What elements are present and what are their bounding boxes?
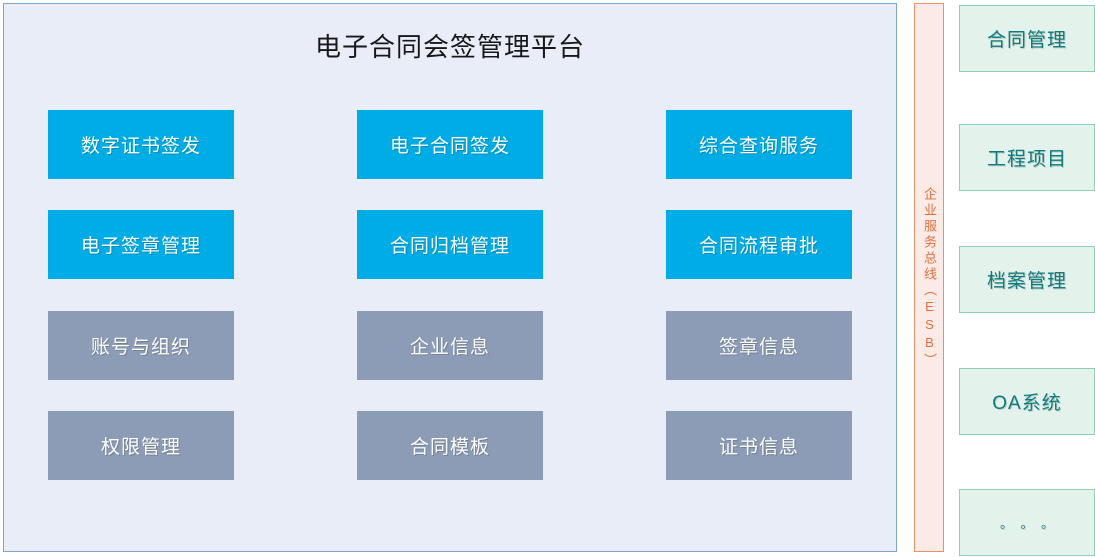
architecture-diagram: 电子合同会签管理平台 数字证书签发 电子合同签发 综合查询服务 电子签章管理 合… (0, 0, 1095, 557)
module-tile-permission-management[interactable]: 权限管理 (48, 411, 234, 480)
module-tile-econtract-issuance[interactable]: 电子合同签发 (357, 110, 543, 179)
external-system-engineering-project[interactable]: 工程项目 (959, 124, 1095, 191)
module-tile-label: 电子合同签发 (390, 131, 510, 158)
external-system-label: 。。。 (986, 513, 1068, 532)
module-tile-contract-template[interactable]: 合同模板 (357, 411, 543, 480)
page-title: 电子合同会签管理平台 (4, 30, 896, 64)
platform-panel: 电子合同会签管理平台 数字证书签发 电子合同签发 综合查询服务 电子签章管理 合… (3, 3, 897, 552)
module-tile-label: 企业信息 (410, 332, 490, 359)
module-tile-label: 合同归档管理 (390, 231, 510, 258)
module-tile-contract-approval-workflow[interactable]: 合同流程审批 (666, 210, 852, 279)
external-system-archive-management[interactable]: 档案管理 (959, 246, 1095, 313)
enterprise-service-bus-label: 企业服务总线（ESB） (920, 187, 938, 369)
module-tile-eseal-management[interactable]: 电子签章管理 (48, 210, 234, 279)
external-system-label: OA系统 (992, 388, 1061, 415)
module-tile-seal-info[interactable]: 签章信息 (666, 311, 852, 380)
module-tile-digital-certificate-issuance[interactable]: 数字证书签发 (48, 110, 234, 179)
module-tile-contract-archive-management[interactable]: 合同归档管理 (357, 210, 543, 279)
module-tile-enterprise-info[interactable]: 企业信息 (357, 311, 543, 380)
module-tile-label: 综合查询服务 (699, 131, 819, 158)
module-tile-label: 合同流程审批 (699, 231, 819, 258)
external-system-contract-management[interactable]: 合同管理 (959, 5, 1095, 72)
module-tile-label: 证书信息 (719, 432, 799, 459)
module-tile-label: 权限管理 (101, 432, 181, 459)
external-system-label: 档案管理 (987, 266, 1067, 293)
module-tile-label: 合同模板 (410, 432, 490, 459)
module-tile-integrated-query-service[interactable]: 综合查询服务 (666, 110, 852, 179)
module-tile-label: 电子签章管理 (81, 231, 201, 258)
external-system-oa[interactable]: OA系统 (959, 368, 1095, 435)
module-tile-label: 签章信息 (719, 332, 799, 359)
module-tile-certificate-info[interactable]: 证书信息 (666, 411, 852, 480)
external-system-label: 合同管理 (987, 25, 1067, 52)
module-tile-account-and-organization[interactable]: 账号与组织 (48, 311, 234, 380)
module-tile-label: 数字证书签发 (81, 131, 201, 158)
module-tile-label: 账号与组织 (91, 332, 191, 359)
enterprise-service-bus: 企业服务总线（ESB） (914, 3, 944, 552)
external-system-more[interactable]: 。。。 (959, 489, 1095, 556)
external-system-label: 工程项目 (987, 144, 1067, 171)
